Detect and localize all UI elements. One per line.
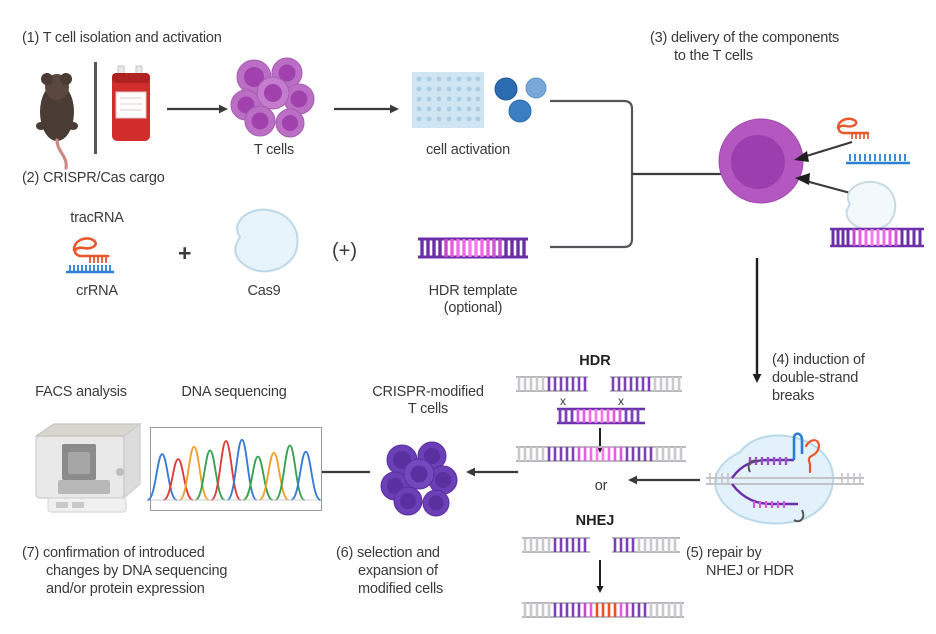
cas9-protein-icon — [222, 205, 304, 277]
delivery-tracrna-icon — [828, 112, 900, 150]
tracrna-crrna-icon — [60, 228, 152, 276]
cas9-dna-complex — [706, 424, 864, 532]
t-cells-label: T cells — [224, 142, 324, 158]
step4-caption-line2: double-strand — [772, 370, 858, 387]
crispr-modified-label-2: T cells — [348, 401, 508, 417]
t-cells-cluster — [230, 55, 318, 143]
cas9-label: Cas9 — [214, 283, 314, 299]
step4-caption-line1: (4) induction of — [772, 352, 865, 369]
hdr-template-dna — [418, 235, 528, 261]
facs-machine-icon — [28, 418, 140, 518]
step7-caption-line2: changes by DNA sequencing — [46, 563, 227, 580]
or-label: or — [556, 478, 646, 494]
crrna-label: crRNA — [42, 283, 152, 299]
crispr-modified-cells-cluster — [380, 440, 464, 520]
step7-caption-line1: (7) confirmation of introduced — [22, 545, 205, 562]
tracrna-label: tracRNA — [42, 210, 152, 226]
hdr-donor-dna — [557, 406, 645, 426]
step5-caption-line1: (5) repair by — [686, 545, 762, 562]
step2-caption: (2) CRISPR/Cas cargo — [22, 170, 165, 187]
nhej-result-dna — [522, 600, 684, 620]
step1-caption: (1) T cell isolation and activation — [22, 30, 222, 47]
cell-activation-label: cell activation — [398, 142, 538, 158]
plus-parenthetical: (+) — [332, 240, 357, 263]
dna-sequencing-label: DNA sequencing — [164, 384, 304, 400]
hdr-template-label-1: HDR template — [408, 283, 538, 299]
step6-caption-line1: (6) selection and — [336, 545, 440, 562]
arrow-isolation-to-tcells — [167, 103, 229, 115]
crispr-modified-label-1: CRISPR-modified — [348, 384, 508, 400]
step6-caption-line2: expansion of — [358, 563, 438, 580]
facs-analysis-label: FACS analysis — [20, 384, 142, 400]
delivery-crrna-icon — [846, 152, 918, 168]
hdr-broken-dna — [516, 374, 682, 394]
delivery-hdr-dna — [830, 226, 924, 250]
chromatogram-traces — [151, 428, 317, 506]
hdr-heading: HDR — [540, 353, 650, 369]
arrow-nhej-result — [594, 560, 606, 594]
hdr-template-label-2: (optional) — [408, 300, 538, 316]
vertical-divider — [94, 62, 97, 154]
nhej-heading: NHEJ — [540, 513, 650, 529]
step6-caption-line3: modified cells — [358, 581, 443, 598]
plus-sign: + — [178, 240, 191, 267]
arrow-tcells-to-activation — [334, 103, 400, 115]
bracket-connector — [548, 98, 738, 258]
step5-caption-line2: NHEJ or HDR — [706, 563, 794, 580]
mouse-icon — [24, 60, 94, 160]
step3-caption-line2: to the T cells — [674, 48, 934, 65]
well-plate-icon — [412, 72, 484, 128]
dna-chromatogram — [150, 427, 322, 511]
step4-caption-line3: breaks — [772, 388, 814, 405]
step7-caption-line3: and/or protein expression — [46, 581, 205, 598]
nhej-broken-dna — [522, 535, 682, 555]
step3-caption-line1: (3) delivery of the components — [650, 30, 930, 47]
blood-bag-icon — [106, 64, 158, 154]
activation-beads-icon — [492, 74, 552, 130]
hdr-result-dna — [516, 444, 686, 464]
arrow-outcomes-to-cells — [466, 466, 518, 478]
arrow-delivery-to-dsb — [750, 258, 764, 384]
